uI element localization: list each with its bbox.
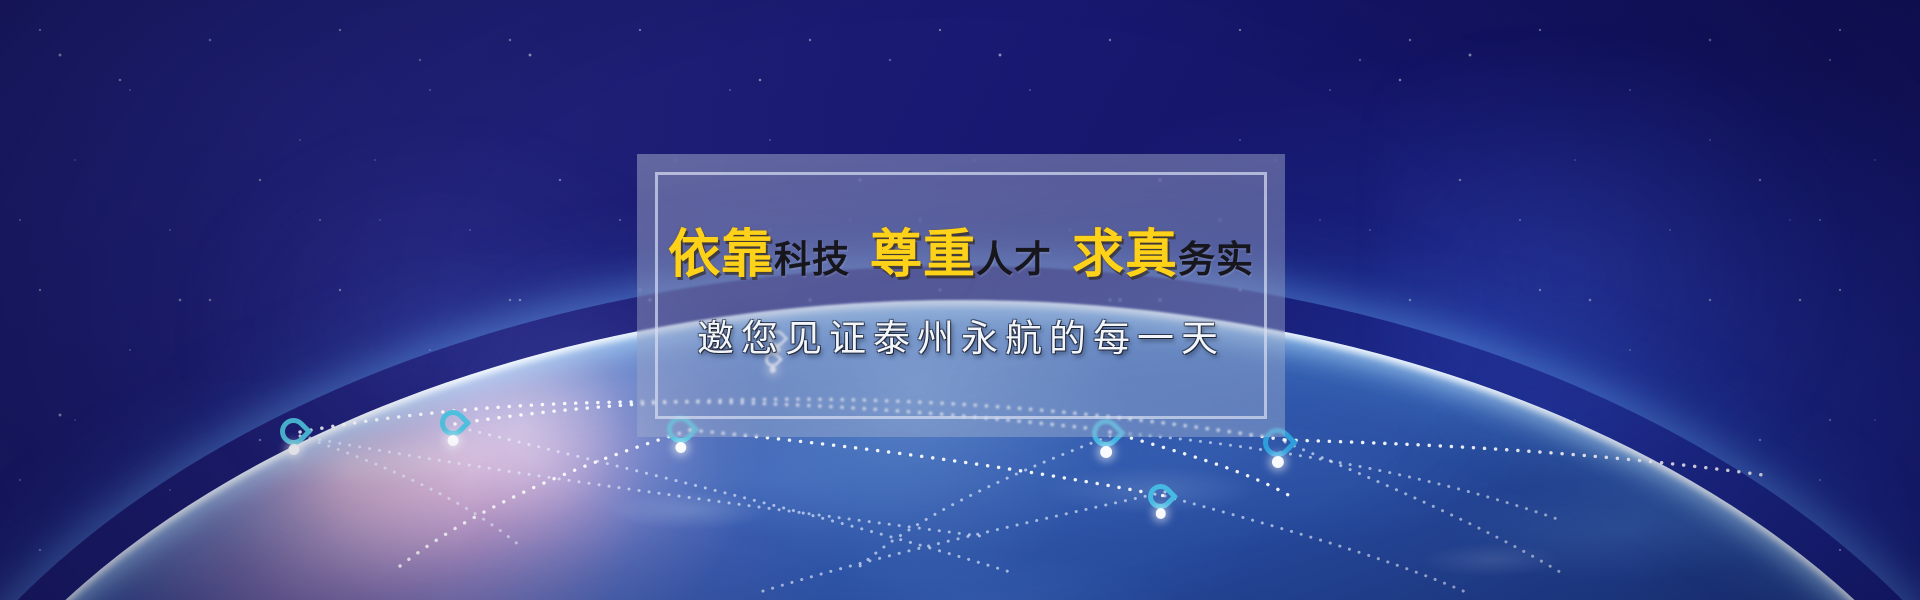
slogan-subline: 邀您见证泰州永航的每一天 (697, 308, 1225, 362)
headline-segment-2: 科技 (774, 242, 850, 279)
hero-banner: 依靠 科技 尊重 人才 求真 务实 邀您见证泰州永航的每一天 (0, 0, 1920, 600)
slogan-panel: 依靠 科技 尊重 人才 求真 务实 邀您见证泰州永航的每一天 (637, 154, 1285, 437)
headline-segment-3: 尊重 (870, 230, 976, 282)
slogan-panel-inner-border: 依靠 科技 尊重 人才 求真 务实 邀您见证泰州永航的每一天 (655, 172, 1267, 419)
slogan-headline: 依靠 科技 尊重 人才 求真 务实 (668, 230, 1254, 282)
slogan-panel-content: 依靠 科技 尊重 人才 求真 务实 邀您见证泰州永航的每一天 (658, 175, 1264, 416)
headline-segment-4: 人才 (976, 242, 1052, 279)
headline-segment-6: 务实 (1178, 242, 1254, 279)
headline-segment-1: 依靠 (668, 230, 774, 282)
headline-segment-5: 求真 (1072, 230, 1178, 282)
nebula-glow-right (1380, 40, 1840, 470)
